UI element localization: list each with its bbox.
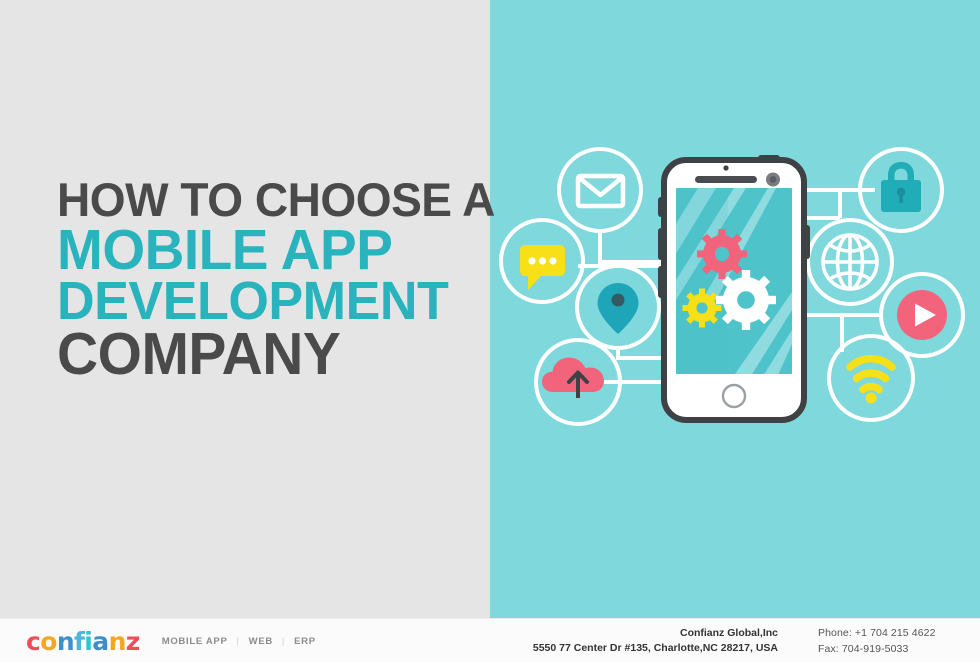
logo-letter-0: c	[26, 627, 40, 656]
headline-line-1: HOW TO CHOOSE A	[57, 178, 469, 221]
footer-company-block: Confianz Global,Inc 5550 77 Center Dr #1…	[478, 619, 798, 662]
footer-left-group: confianz MOBILE APP|WEB|ERP	[26, 619, 316, 662]
nav-item-web[interactable]: WEB	[249, 636, 273, 647]
footer-nav: MOBILE APP|WEB|ERP	[162, 636, 316, 647]
poster-stage: HOW TO CHOOSE A MOBILE APP DEVELOPMENT C…	[0, 0, 980, 618]
page-title: HOW TO CHOOSE A MOBILE APP DEVELOPMENT C…	[57, 178, 477, 382]
headline-line-2: MOBILE APP	[57, 224, 462, 276]
logo-letter-3: f	[74, 627, 84, 656]
cloud-upload-icon	[542, 358, 604, 399]
gear-yellow	[683, 289, 722, 328]
play-icon	[897, 290, 947, 340]
logo-letter-7: z	[126, 627, 140, 656]
nav-separator: |	[236, 636, 239, 647]
headline-line-3: DEVELOPMENT	[57, 277, 462, 327]
confianz-logo[interactable]: confianz	[26, 629, 140, 654]
company-name: Confianz Global,Inc	[680, 626, 778, 641]
globe-icon	[823, 235, 877, 289]
chat-icon-group	[501, 220, 583, 302]
company-address: 5550 77 Center Dr #135, Charlotte,NC 282…	[533, 641, 778, 656]
phone-sensor	[723, 165, 728, 170]
logo-letter-2: n	[57, 627, 74, 656]
headline-line-4: COMPANY	[57, 327, 462, 381]
wifi-icon	[850, 359, 892, 390]
logo-letter-5: a	[92, 627, 108, 656]
globe-icon-group	[808, 220, 892, 304]
location-icon-group	[577, 266, 659, 348]
gear-white	[716, 270, 776, 330]
footer-bar: confianz MOBILE APP|WEB|ERP Confianz Glo…	[0, 618, 980, 662]
wifi-icon-group	[829, 336, 913, 420]
email-icon-group	[559, 149, 641, 231]
mobile-app-illustration	[490, 0, 980, 618]
nav-item-erp[interactable]: ERP	[294, 636, 316, 647]
footer-contact-block: Phone: +1 704 215 4622 Fax: 704-919-5033	[818, 619, 936, 662]
nav-item-mobile-app[interactable]: MOBILE APP	[162, 636, 228, 647]
gear-pink	[697, 229, 747, 279]
location-icon	[598, 283, 639, 334]
chat-icon	[520, 245, 565, 290]
phone-earpiece	[695, 176, 757, 183]
logo-letter-6: n	[109, 627, 126, 656]
smartphone-device	[658, 155, 810, 420]
company-phone: Phone: +1 704 215 4622	[818, 625, 936, 641]
company-fax: Fax: 704-919-5033	[818, 641, 936, 657]
email-icon	[578, 176, 623, 206]
poster-root: HOW TO CHOOSE A MOBILE APP DEVELOPMENT C…	[0, 0, 980, 662]
lock-icon	[881, 162, 921, 212]
logo-letter-1: o	[40, 627, 57, 656]
nav-separator: |	[282, 636, 285, 647]
